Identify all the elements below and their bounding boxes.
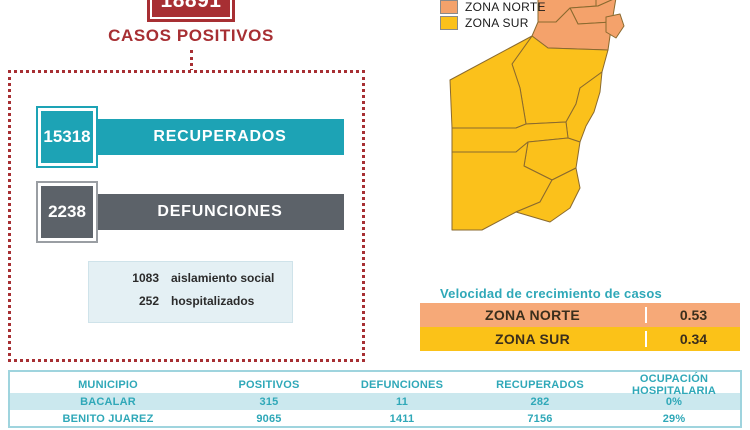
stat-hospitalizados-label: hospitalizados (171, 294, 254, 308)
cell-recuperados: 282 (472, 396, 608, 408)
table-row: BENITO JUAREZ 9065 1411 7156 29% (10, 410, 740, 427)
table-header-row: MUNICIPIO POSITIVOS DEFUNCIONES RECUPERA… (10, 376, 740, 393)
column-header-recuperados: RECUPERADOS (472, 379, 608, 391)
municipality-table: MUNICIPIO POSITIVOS DEFUNCIONES RECUPERA… (8, 370, 742, 428)
cell-positivos: 9065 (206, 413, 332, 425)
total-cases-box: 18891 (147, 0, 235, 22)
total-cases-value: 18891 (161, 0, 222, 11)
column-header-municipio: MUNICIPIO (10, 379, 206, 391)
map-svg (420, 0, 750, 242)
velocity-value-zona-norte: 0.53 (645, 307, 740, 323)
table-row: BACALAR 315 11 282 0% (10, 393, 740, 410)
stat-row-hospitalizados: 252 hospitalizados (89, 294, 292, 308)
metric-defunciones: 2238 DEFUNCIONES (38, 183, 344, 241)
total-cases-label: CASOS POSITIVOS (0, 26, 382, 46)
velocity-title: Velocidad de crecimiento de casos (440, 286, 662, 301)
stat-row-aislamiento: 1083 aislamiento social (89, 271, 292, 285)
column-header-ocupacion: OCUPACIÓN HOSPITALARIA (608, 373, 740, 397)
cell-ocupacion: 29% (608, 413, 740, 425)
velocity-zone-zona-sur: ZONA SUR (420, 331, 645, 347)
metric-defunciones-label: DEFUNCIONES (96, 194, 344, 230)
metric-recuperados-value: 15318 (38, 108, 96, 166)
velocity-row-zona-sur: ZONA SUR 0.34 (420, 327, 740, 351)
cell-municipio: BENITO JUAREZ (10, 413, 206, 425)
legend-label-zona-sur: ZONA SUR (465, 16, 529, 30)
legend-swatch-zona-sur (440, 16, 458, 30)
cell-recuperados: 7156 (472, 413, 608, 425)
stat-hospitalizados-value: 252 (89, 294, 171, 308)
cell-defunciones: 11 (332, 396, 472, 408)
quintana-roo-map (420, 0, 750, 242)
velocity-value-zona-sur: 0.34 (645, 331, 740, 347)
metric-defunciones-value: 2238 (38, 183, 96, 241)
stat-aislamiento-label: aislamiento social (171, 271, 274, 285)
velocity-row-zona-norte: ZONA NORTE 0.53 (420, 303, 740, 327)
legend-label-zona-norte: ZONA NORTE (465, 0, 546, 14)
column-header-positivos: POSITIVOS (206, 379, 332, 391)
map-legend: ZONA NORTE ZONA SUR (440, 0, 546, 32)
velocity-table: ZONA NORTE 0.53 ZONA SUR 0.34 (420, 303, 740, 351)
secondary-stats-box: 1083 aislamiento social 252 hospitalizad… (88, 261, 293, 323)
cell-positivos: 315 (206, 396, 332, 408)
metric-recuperados-label: RECUPERADOS (96, 119, 344, 155)
legend-item-zona-sur: ZONA SUR (440, 16, 546, 30)
velocity-zone-zona-norte: ZONA NORTE (420, 307, 645, 323)
metric-recuperados: 15318 RECUPERADOS (38, 108, 344, 166)
legend-item-zona-norte: ZONA NORTE (440, 0, 546, 14)
connector-line (190, 50, 193, 72)
column-header-defunciones: DEFUNCIONES (332, 379, 472, 391)
stat-aislamiento-value: 1083 (89, 271, 171, 285)
infographic-root: 18891 CASOS POSITIVOS 15318 RECUPERADOS … (0, 0, 750, 430)
legend-swatch-zona-norte (440, 0, 458, 14)
cell-municipio: BACALAR (10, 396, 206, 408)
cell-ocupacion: 0% (608, 396, 740, 408)
cell-defunciones: 1411 (332, 413, 472, 425)
